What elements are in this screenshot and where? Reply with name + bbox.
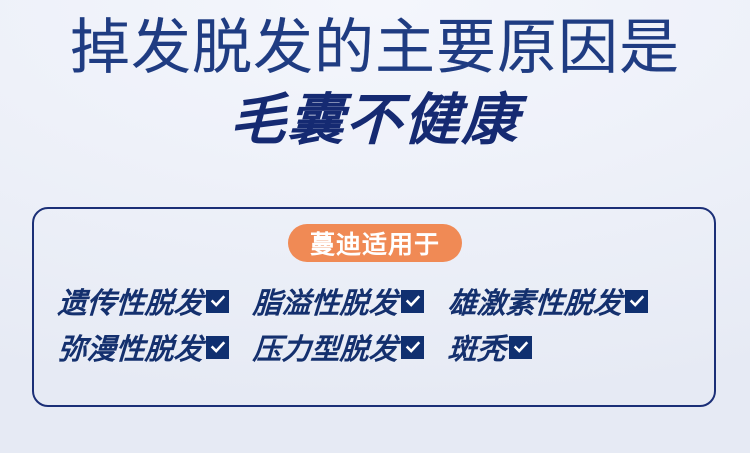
indications-checklist: 遗传性脱发 脂溢性脱发 雄激素性脱发 — [58, 278, 698, 370]
list-item[interactable]: 斑秃 — [448, 326, 532, 368]
headline-block: 掉发脱发的主要原因是 毛囊不健康 — [0, 0, 750, 153]
list-item-label: 脂溢性脱发 — [252, 280, 399, 322]
list-item-label: 遗传性脱发 — [57, 280, 204, 322]
checkbox-checked-icon[interactable] — [625, 290, 648, 313]
headline-line-1: 掉发脱发的主要原因是 — [0, 0, 750, 83]
checklist-row: 弥漫性脱发 压力型脱发 斑秃 — [58, 324, 698, 370]
headline-line-2: 毛囊不健康 — [0, 83, 750, 153]
list-item-label: 斑秃 — [447, 326, 507, 368]
list-item-label: 雄激素性脱发 — [447, 280, 623, 322]
list-item-label: 弥漫性脱发 — [57, 326, 204, 368]
list-item[interactable]: 压力型脱发 — [253, 326, 424, 368]
list-item[interactable]: 遗传性脱发 — [58, 280, 229, 322]
brand-badge: 蔓迪适用于 — [288, 224, 462, 262]
list-item[interactable]: 雄激素性脱发 — [448, 280, 648, 322]
list-item-label: 压力型脱发 — [252, 326, 399, 368]
list-item[interactable]: 弥漫性脱发 — [58, 326, 229, 368]
checkbox-checked-icon[interactable] — [401, 336, 424, 359]
checkbox-checked-icon[interactable] — [509, 336, 532, 359]
checkbox-checked-icon[interactable] — [206, 336, 229, 359]
checkbox-checked-icon[interactable] — [206, 290, 229, 313]
promo-poster: 掉发脱发的主要原因是 毛囊不健康 蔓迪适用于 遗传性脱发 脂溢性脱发 — [0, 0, 750, 453]
list-item[interactable]: 脂溢性脱发 — [253, 280, 424, 322]
checklist-row: 遗传性脱发 脂溢性脱发 雄激素性脱发 — [58, 278, 698, 324]
checkbox-checked-icon[interactable] — [401, 290, 424, 313]
